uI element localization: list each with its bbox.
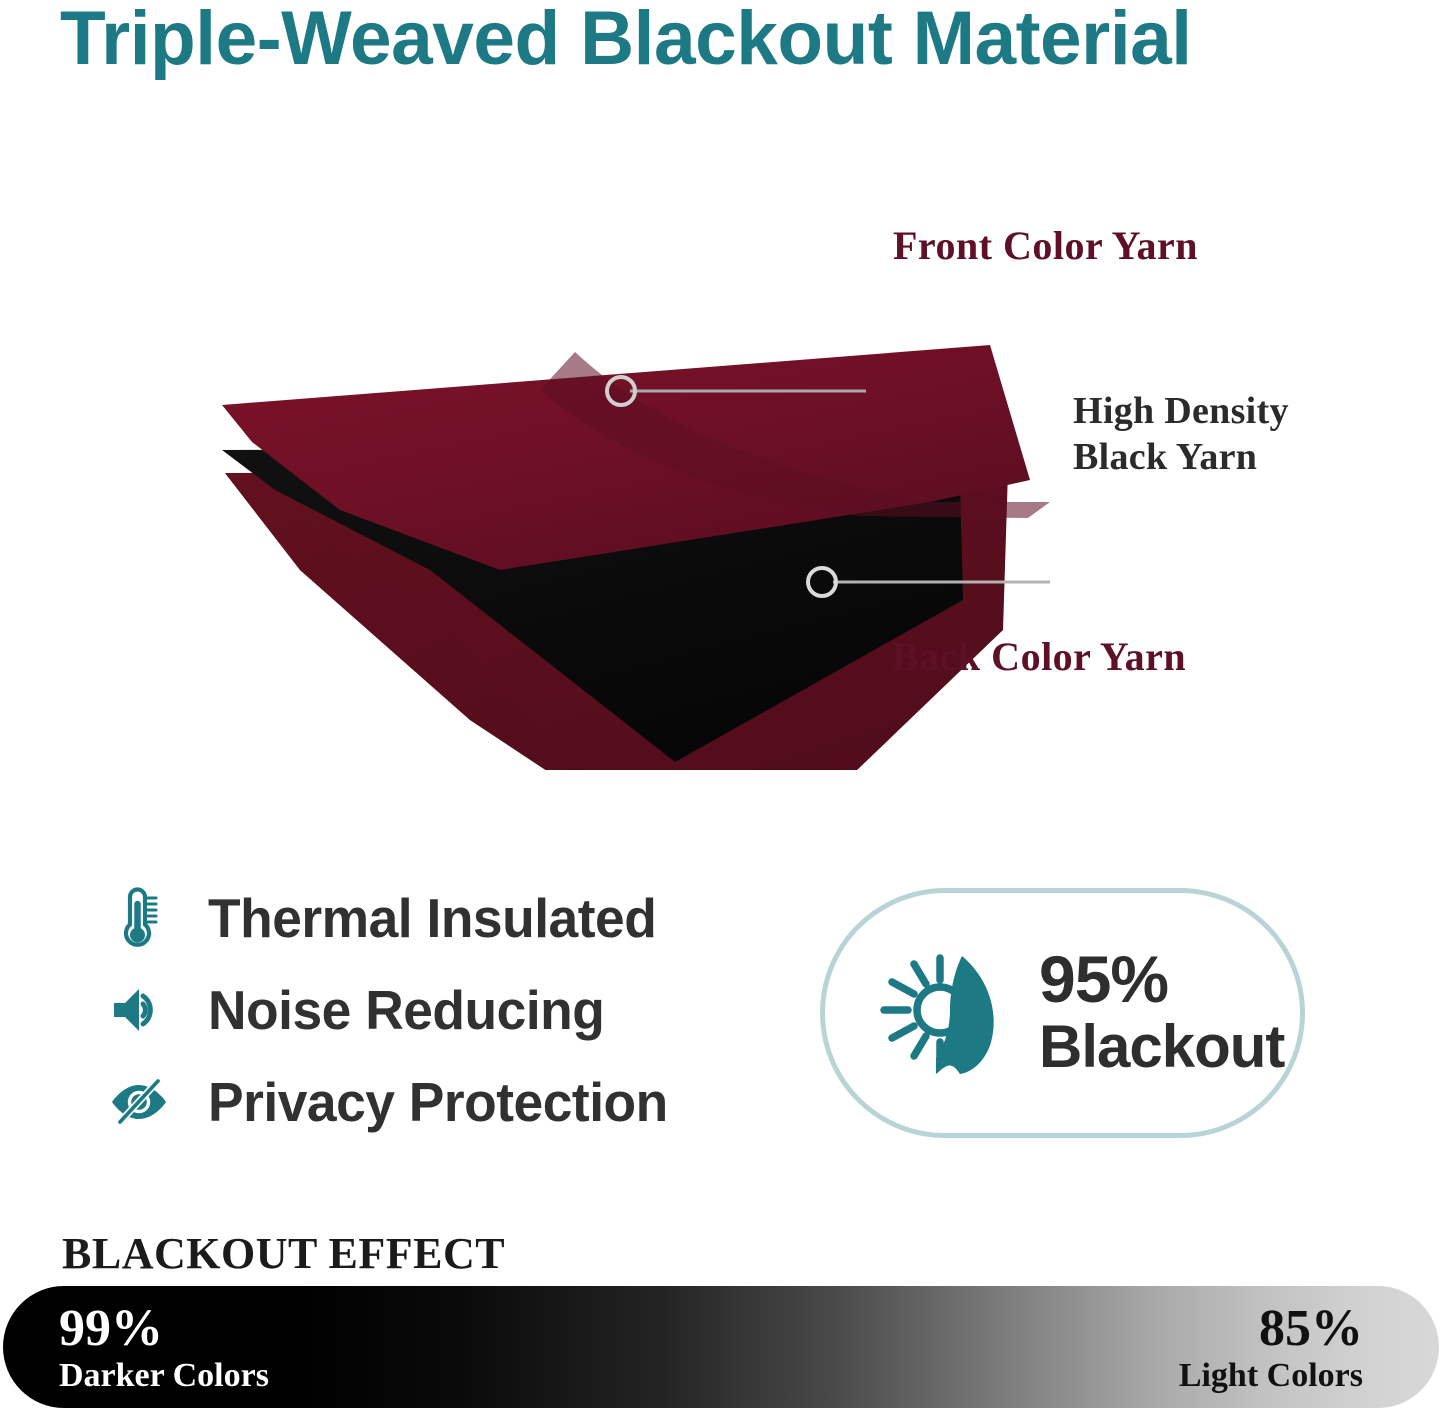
callout-label-black-yarn: High Density Black Yarn xyxy=(1073,388,1289,480)
callout-label-back-color-yarn: Back Color Yarn xyxy=(892,633,1186,680)
thermometer-icon xyxy=(108,882,170,954)
infographic-root: Triple-Weaved Blackout Material xyxy=(0,0,1445,1394)
blackout-effect-gradient-bar: 99% Darker Colors 85% Light Colors xyxy=(3,1286,1439,1408)
blackout-percent-value: 95% xyxy=(1039,945,1284,1013)
blackout-badge-text: 95% Blackout xyxy=(1039,945,1284,1081)
darker-colors-percent: 99% xyxy=(59,1302,269,1356)
page-title: Triple-Weaved Blackout Material xyxy=(60,0,1400,82)
callout-label-black-yarn-line2: Black Yarn xyxy=(1073,436,1257,478)
blackout-word-label: Blackout xyxy=(1039,1013,1284,1081)
gradient-bar-light-colors: 85% Light Colors xyxy=(1179,1302,1363,1396)
feature-label-thermal-insulated: Thermal Insulated xyxy=(208,888,656,948)
darker-colors-label: Darker Colors xyxy=(59,1356,269,1396)
eye-slash-icon xyxy=(108,1066,170,1138)
feature-label-privacy-protection: Privacy Protection xyxy=(208,1072,668,1132)
light-colors-label: Light Colors xyxy=(1179,1356,1363,1396)
gradient-bar-darker-colors: 99% Darker Colors xyxy=(59,1302,269,1396)
feature-row-thermal-insulated: Thermal Insulated xyxy=(108,872,768,964)
blackout-effect-heading: BLACKOUT EFFECT xyxy=(62,1228,505,1279)
blackout-percentage-badge: 95% Blackout xyxy=(820,888,1305,1138)
sun-blocked-icon xyxy=(865,933,1025,1093)
feature-row-noise-reducing: Noise Reducing xyxy=(108,964,768,1056)
callout-label-black-yarn-line1: High Density xyxy=(1073,390,1289,432)
callout-label-front-color-yarn: Front Color Yarn xyxy=(893,222,1198,269)
feature-row-privacy-protection: Privacy Protection xyxy=(108,1056,768,1148)
feature-label-noise-reducing: Noise Reducing xyxy=(208,980,604,1040)
light-colors-percent: 85% xyxy=(1179,1302,1363,1356)
feature-list: Thermal Insulated Noise Reducing xyxy=(108,872,768,1148)
speaker-sound-icon xyxy=(108,974,170,1046)
